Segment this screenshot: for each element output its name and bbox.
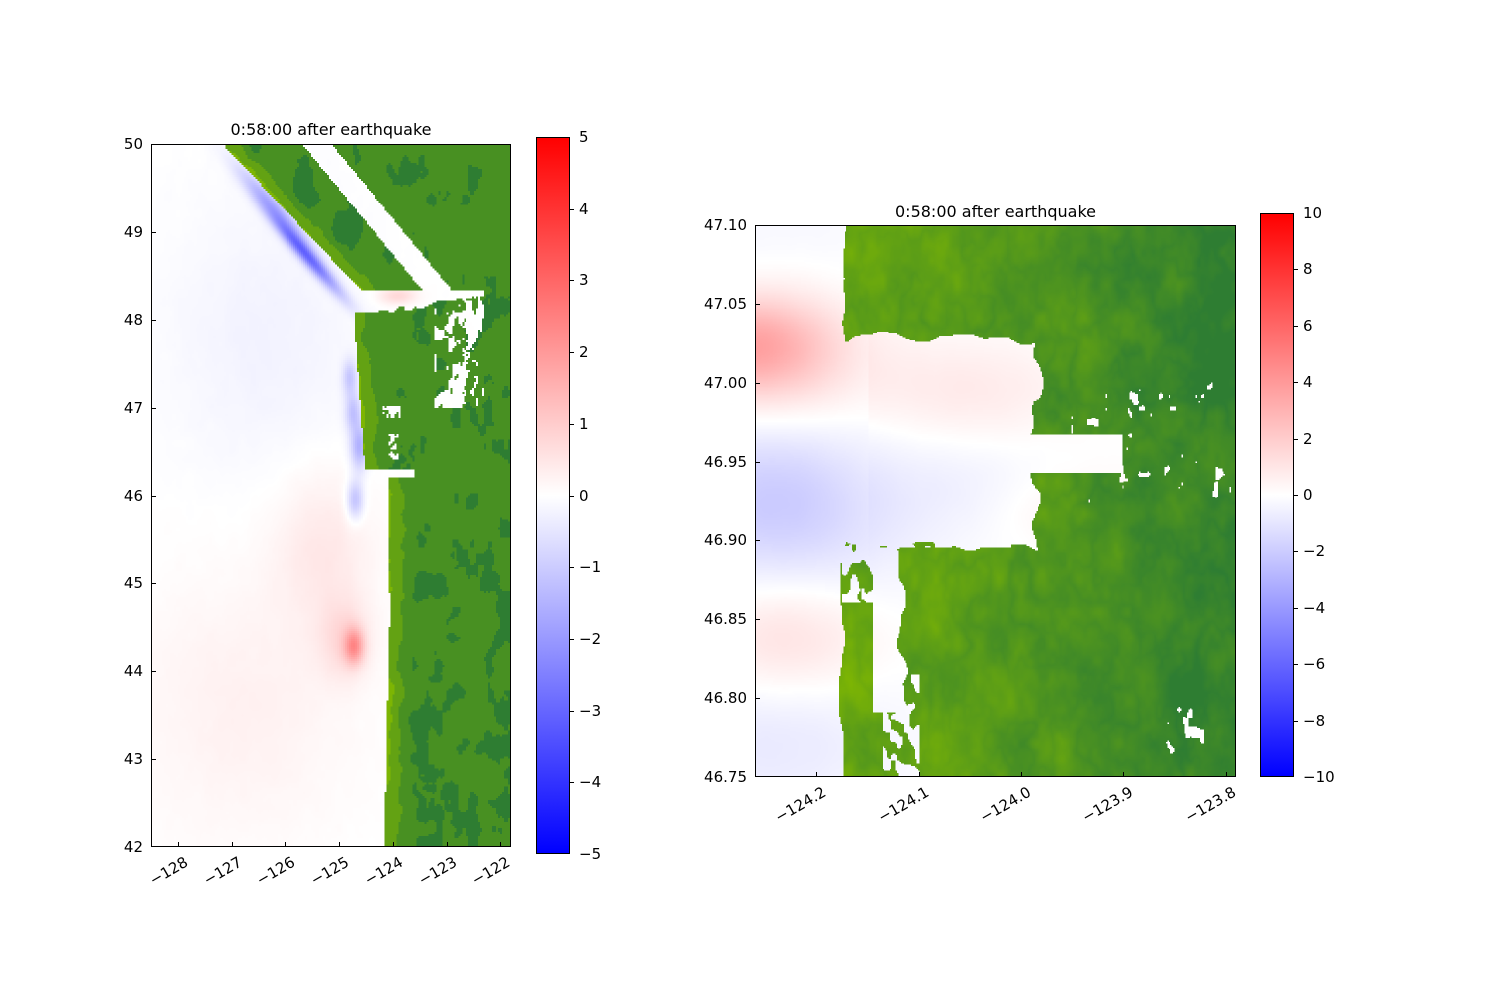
- heatmap-grays-harbor-zoom: [756, 226, 1235, 776]
- colorbar-tick-label: −10: [1303, 768, 1335, 786]
- y-tick-label: 42: [71, 838, 143, 856]
- x-tick-label: −124.1: [815, 783, 931, 861]
- colorbar-tick-label: −2: [1303, 542, 1325, 560]
- colorbar-tick-mark: [570, 782, 574, 783]
- colorbar-tick-mark: [1294, 721, 1298, 722]
- chart-title-regional-overview: 0:58:00 after earthquake: [151, 120, 511, 139]
- y-tick-label: 47: [71, 399, 143, 417]
- colorbar-tick-mark: [1294, 326, 1298, 327]
- y-tick-label: 47.10: [675, 216, 747, 234]
- colorbar-tick-label: 2: [1303, 430, 1313, 448]
- colorbar-tick-mark: [1294, 439, 1298, 440]
- heatmap-regional-overview: [152, 145, 510, 846]
- colorbar-tick-label: 1: [579, 415, 589, 433]
- colorbar-tick-mark: [1294, 551, 1298, 552]
- y-tick-mark: [151, 759, 156, 760]
- y-tick-label: 50: [71, 135, 143, 153]
- colorbar-tick-label: −8: [1303, 712, 1325, 730]
- colorbar-tick-label: 8: [1303, 260, 1313, 278]
- colorbar-tick-mark: [1294, 382, 1298, 383]
- y-tick-label: 46: [71, 487, 143, 505]
- y-tick-mark: [151, 671, 156, 672]
- x-tick-mark: [1226, 772, 1227, 777]
- x-tick-mark: [500, 842, 501, 847]
- colorbar-tick-label: −5: [579, 845, 601, 863]
- y-tick-mark: [755, 540, 760, 541]
- x-tick-mark: [285, 842, 286, 847]
- y-tick-mark: [151, 232, 156, 233]
- colorbar-tick-mark: [1294, 608, 1298, 609]
- y-tick-mark: [755, 383, 760, 384]
- figure-canvas: 0:58:00 after earthquake 424344454647484…: [0, 0, 1500, 1000]
- colorbar-tick-label: −2: [579, 630, 601, 648]
- x-tick-label: −123.8: [1122, 783, 1238, 861]
- axes-grays-harbor-zoom[interactable]: [755, 225, 1236, 777]
- y-tick-mark: [151, 320, 156, 321]
- colorbar-tick-label: 4: [1303, 373, 1313, 391]
- colorbar-tick-label: 4: [579, 200, 589, 218]
- colorbar-tick-mark: [570, 639, 574, 640]
- y-tick-label: 47.00: [675, 374, 747, 392]
- colorbar-tick-label: 6: [1303, 317, 1313, 335]
- y-tick-label: 48: [71, 311, 143, 329]
- colorbar-tick-mark: [1294, 495, 1298, 496]
- y-tick-label: 46.95: [675, 453, 747, 471]
- colorbar-tick-label: −6: [1303, 655, 1325, 673]
- colorbar-tick-label: 0: [579, 487, 589, 505]
- y-tick-label: 47.05: [675, 295, 747, 313]
- y-tick-label: 43: [71, 750, 143, 768]
- colorbar-tick-label: −4: [1303, 599, 1325, 617]
- colorbar-tick-label: 3: [579, 271, 589, 289]
- chart-title-grays-harbor-zoom: 0:58:00 after earthquake: [755, 202, 1236, 221]
- x-tick-mark: [393, 842, 394, 847]
- colorbar-tick-label: 5: [579, 128, 589, 146]
- colorbar-tick-mark: [570, 567, 574, 568]
- axes-regional-overview[interactable]: [151, 144, 511, 847]
- colorbar-tick-mark: [570, 711, 574, 712]
- y-tick-label: 49: [71, 223, 143, 241]
- y-tick-mark: [151, 408, 156, 409]
- x-tick-label: −124.2: [713, 783, 829, 861]
- x-tick-mark: [339, 842, 340, 847]
- y-tick-label: 46.85: [675, 610, 747, 628]
- x-tick-mark: [447, 842, 448, 847]
- y-tick-label: 46.90: [675, 531, 747, 549]
- y-tick-mark: [755, 619, 760, 620]
- colorbar-tick-label: 0: [1303, 486, 1313, 504]
- y-tick-label: 46.80: [675, 689, 747, 707]
- colorbar-tick-label: −1: [579, 558, 601, 576]
- colorbar-tick-mark: [1294, 269, 1298, 270]
- colorbar-regional-overview: [536, 137, 570, 854]
- colorbar-tick-mark: [570, 352, 574, 353]
- colorbar-tick-label: −3: [579, 702, 601, 720]
- y-tick-label: 44: [71, 662, 143, 680]
- x-tick-mark: [1021, 772, 1022, 777]
- colorbar-tick-mark: [570, 280, 574, 281]
- colorbar-tick-mark: [1294, 664, 1298, 665]
- x-tick-label: −123.9: [1020, 783, 1136, 861]
- x-tick-label: −124.0: [918, 783, 1034, 861]
- y-tick-mark: [151, 496, 156, 497]
- colorbar-tick-label: 2: [579, 343, 589, 361]
- x-tick-mark: [919, 772, 920, 777]
- y-tick-mark: [151, 583, 156, 584]
- colorbar-tick-label: 10: [1303, 204, 1322, 222]
- colorbar-grays-harbor-zoom: [1260, 213, 1294, 777]
- y-tick-mark: [755, 462, 760, 463]
- x-tick-mark: [232, 842, 233, 847]
- y-tick-label: 45: [71, 574, 143, 592]
- y-tick-label: 46.75: [675, 768, 747, 786]
- x-tick-mark: [816, 772, 817, 777]
- colorbar-tick-mark: [570, 424, 574, 425]
- y-tick-mark: [755, 698, 760, 699]
- colorbar-tick-label: −4: [579, 773, 601, 791]
- x-tick-mark: [178, 842, 179, 847]
- y-tick-mark: [755, 304, 760, 305]
- colorbar-tick-mark: [570, 496, 574, 497]
- x-tick-mark: [1123, 772, 1124, 777]
- colorbar-tick-mark: [570, 209, 574, 210]
